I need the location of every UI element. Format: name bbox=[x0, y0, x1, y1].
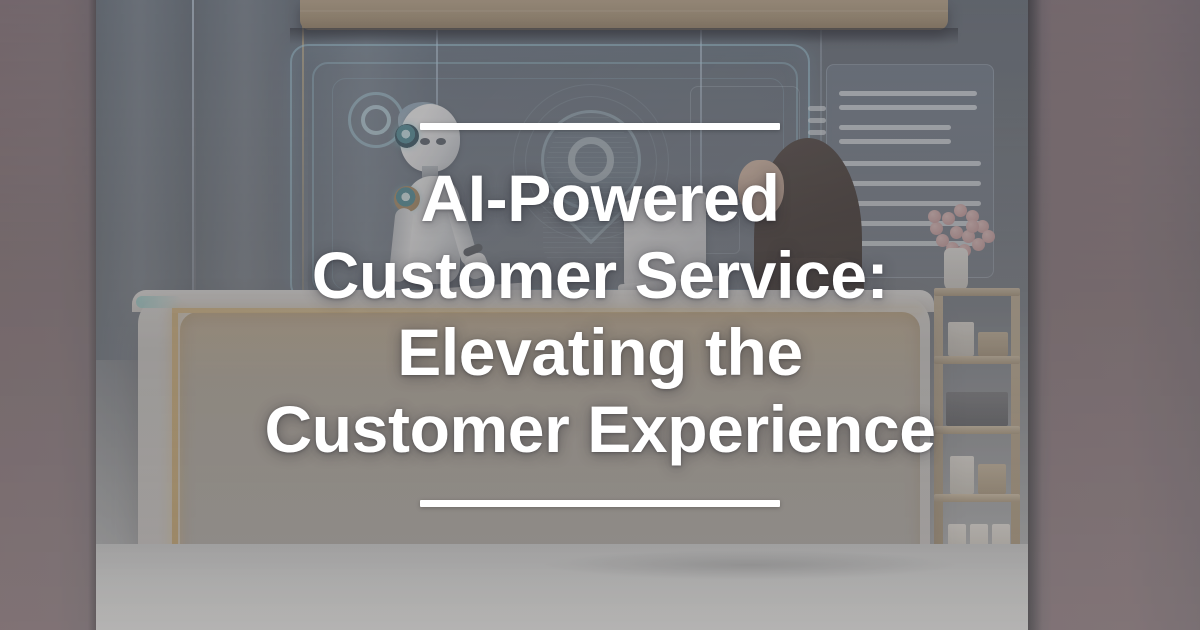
headline-block: AI-Powered Customer Service: Elevating t… bbox=[0, 0, 1200, 630]
hero-banner: AI-Powered Customer Service: Elevating t… bbox=[0, 0, 1200, 630]
headline-line-2: Customer Service: bbox=[265, 237, 936, 314]
headline-line-4: Customer Experience bbox=[265, 391, 936, 468]
headline-line-1: AI-Powered bbox=[265, 160, 936, 237]
bottom-divider bbox=[420, 500, 780, 507]
headline-line-3: Elevating the bbox=[265, 314, 936, 391]
page-title: AI-Powered Customer Service: Elevating t… bbox=[265, 160, 936, 469]
top-divider bbox=[420, 123, 780, 130]
